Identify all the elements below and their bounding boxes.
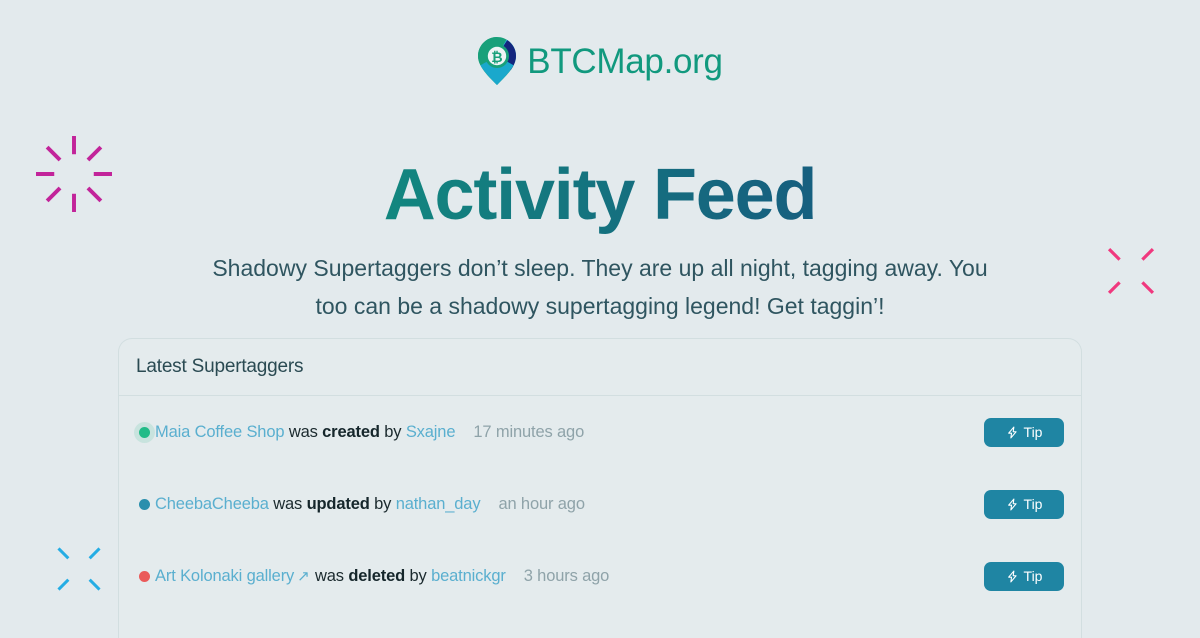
activity-description: CheebaCheeba was updated by nathan_dayan… (155, 495, 984, 514)
status-dot-wrapper (133, 499, 155, 510)
action-label: updated (307, 495, 370, 513)
by-label: by (405, 567, 431, 585)
activity-feed-list: Maia Coffee Shop was created by Sxajne17… (119, 396, 1081, 612)
tip-button[interactable]: Tip (984, 490, 1064, 519)
page-subtitle: Shadowy Supertaggers don’t sleep. They a… (200, 249, 1000, 325)
svg-text:₿: ₿ (492, 49, 503, 65)
card-header: Latest Supertaggers (119, 339, 1081, 396)
latest-supertaggers-card: Latest Supertaggers Maia Coffee Shop was… (118, 338, 1082, 638)
brand-name: BTCMap.org (527, 44, 722, 79)
external-link-icon[interactable]: ↗ (297, 567, 309, 585)
was-label: was (269, 495, 307, 513)
status-dot-created (139, 427, 150, 438)
status-dot-wrapper (133, 571, 155, 582)
btcmap-pin-bitcoin-icon: ₿ (477, 36, 517, 86)
card-header-title: Latest Supertaggers (136, 356, 303, 378)
was-label: was (311, 567, 349, 585)
tip-button-label: Tip (1024, 497, 1043, 511)
page-title: Activity Feed (0, 156, 1200, 235)
tip-button[interactable]: Tip (984, 418, 1064, 447)
sparkle-cross-blue-decoration (50, 540, 108, 598)
by-label: by (370, 495, 396, 513)
activity-description: Art Kolonaki gallery↗ was deleted by bea… (155, 567, 984, 586)
lightning-bolt-icon (1006, 425, 1019, 440)
status-dot-wrapper (133, 427, 155, 438)
tip-button-label: Tip (1024, 425, 1043, 439)
was-label: was (284, 423, 322, 441)
place-link[interactable]: CheebaCheeba (155, 495, 269, 513)
activity-row: CheebaCheeba was updated by nathan_dayan… (119, 468, 1081, 540)
action-label: created (322, 423, 380, 441)
relative-timestamp: an hour ago (498, 495, 584, 513)
tip-button-label: Tip (1024, 569, 1043, 583)
relative-timestamp: 3 hours ago (524, 567, 610, 585)
tip-button[interactable]: Tip (984, 562, 1064, 591)
relative-timestamp: 17 minutes ago (473, 423, 584, 441)
by-label: by (380, 423, 406, 441)
action-label: deleted (348, 567, 405, 585)
user-link[interactable]: nathan_day (396, 495, 481, 513)
brand-header[interactable]: ₿ BTCMap.org (0, 36, 1200, 86)
place-link[interactable]: Maia Coffee Shop (155, 423, 284, 441)
status-dot-updated (139, 499, 150, 510)
user-link[interactable]: Sxajne (406, 423, 456, 441)
place-link[interactable]: Art Kolonaki gallery (155, 567, 294, 585)
lightning-bolt-icon (1006, 497, 1019, 512)
sparkle-cross-pink-decoration (1100, 240, 1162, 302)
activity-description: Maia Coffee Shop was created by Sxajne17… (155, 423, 984, 442)
status-dot-deleted (139, 571, 150, 582)
lightning-bolt-icon (1006, 569, 1019, 584)
activity-row: Art Kolonaki gallery↗ was deleted by bea… (119, 540, 1081, 612)
user-link[interactable]: beatnickgr (431, 567, 506, 585)
activity-row: Maia Coffee Shop was created by Sxajne17… (119, 396, 1081, 468)
